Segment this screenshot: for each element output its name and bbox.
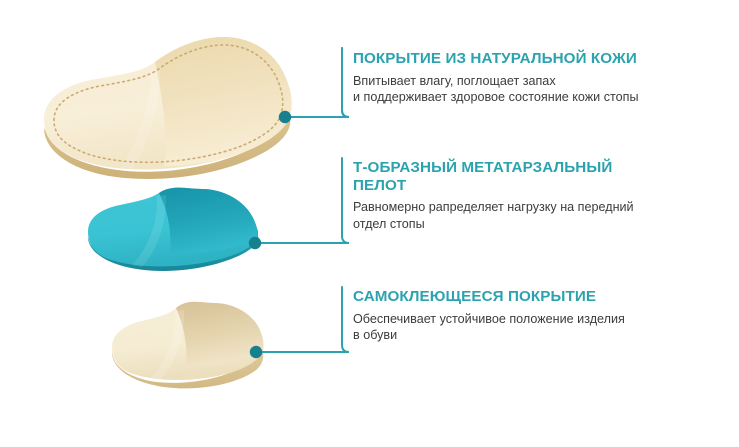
feature-block-self-adhesive-cover: САМОКЛЕЮЩЕЕСЯ ПОКРЫТИЕ Обеспечивает усто… (353, 288, 625, 344)
connector-2-dot (249, 237, 261, 249)
feature-block-t-shaped-metatarsal-pad: Т-ОБРАЗНЫЙ МЕТАТАРЗАЛЬНЫЙ ПЕЛОТ Равномер… (353, 159, 634, 232)
feature-description: Равномерно рапределяет нагрузку на перед… (353, 199, 634, 232)
feature-title: ПОКРЫТИЕ ИЗ НАТУРАЛЬНОЙ КОЖИ (353, 50, 639, 68)
connector-2-line (255, 158, 349, 243)
connector-3-line (256, 287, 349, 352)
pelot-dome-shading (159, 188, 257, 254)
connector-3 (250, 287, 349, 358)
feature-description: Впитывает влагу, поглощает запах и подде… (353, 73, 639, 106)
connector-1-line (285, 48, 349, 117)
feature-description: Обеспечивает устойчивое положение издели… (353, 311, 625, 344)
feature-title: САМОКЛЕЮЩЕЕСЯ ПОКРЫТИЕ (353, 288, 625, 306)
connector-1-line-path (285, 48, 349, 117)
teal-metatarsal-pelot (88, 188, 258, 271)
adhesive-pad (112, 302, 264, 389)
leather-insole-pad (44, 37, 292, 179)
connector-1-dot (279, 111, 291, 123)
connector-3-dot (250, 346, 262, 358)
infographic-canvas: ПОКРЫТИЕ ИЗ НАТУРАЛЬНОЙ КОЖИ Впитывает в… (0, 0, 739, 447)
connector-2 (249, 158, 349, 249)
feature-title: Т-ОБРАЗНЫЙ МЕТАТАРЗАЛЬНЫЙ ПЕЛОТ (353, 159, 634, 194)
feature-block-natural-leather-cover: ПОКРЫТИЕ ИЗ НАТУРАЛЬНОЙ КОЖИ Впитывает в… (353, 50, 639, 106)
